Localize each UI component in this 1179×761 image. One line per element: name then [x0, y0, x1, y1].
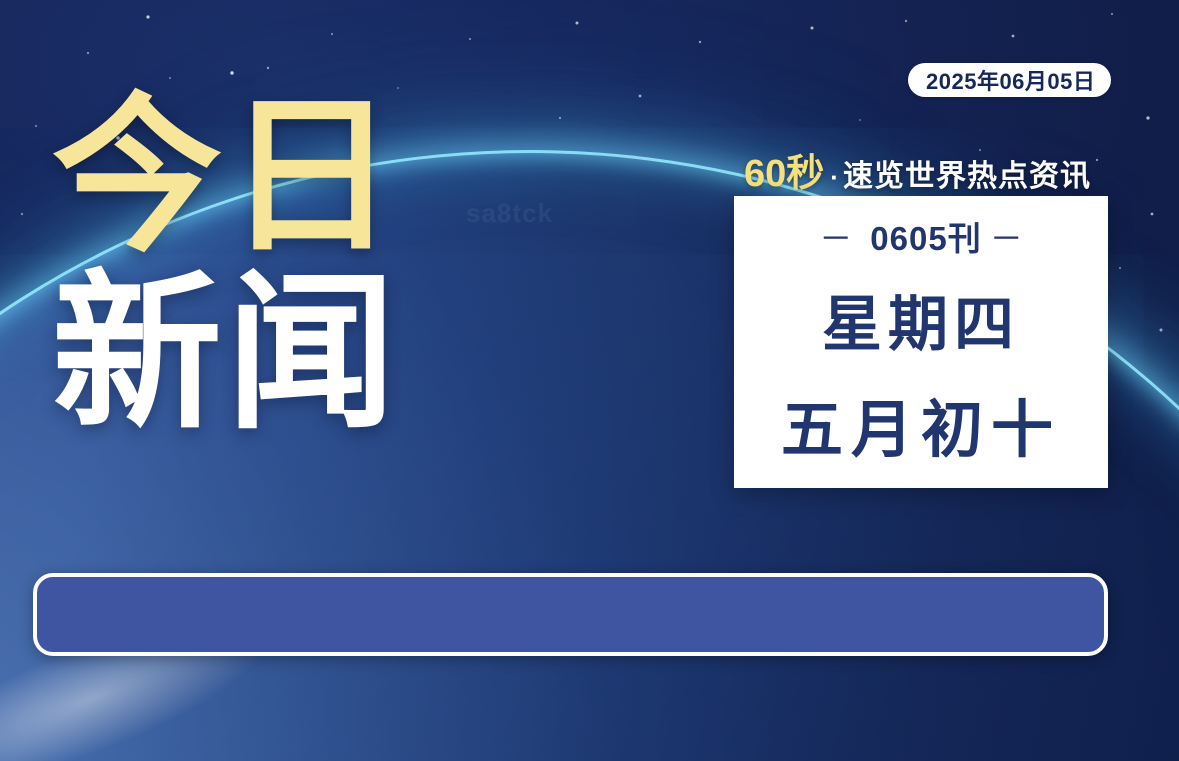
tagline-separator: · — [830, 162, 839, 193]
news-poster: sa8tck 2025年06月05日 今日 新闻 60秒 · 速览世界热点资讯 … — [0, 0, 1179, 761]
tagline: 60秒 · 速览世界热点资讯 — [744, 142, 1091, 197]
bottom-banner-bar[interactable] — [33, 573, 1108, 656]
lunar-date-label: 五月初十 — [781, 379, 1061, 469]
title-line-today: 今日 — [52, 96, 400, 259]
weekday-label: 星期四 — [822, 276, 1020, 363]
tagline-text: 速览世界热点资讯 — [843, 151, 1091, 195]
info-card: － 0605刊 － 星期四 五月初十 — [734, 196, 1108, 488]
issue-dash-left-icon: － — [819, 212, 852, 260]
tagline-seconds: 60秒 — [744, 142, 824, 197]
page-title: 今日 新闻 — [52, 96, 400, 436]
issue-dash-right-icon: － — [990, 212, 1023, 260]
issue-row: － 0605刊 － — [819, 212, 1022, 260]
issue-number: 0605刊 — [870, 212, 981, 260]
date-badge: 2025年06月05日 — [908, 63, 1111, 97]
title-line-news: 新闻 — [52, 273, 400, 436]
